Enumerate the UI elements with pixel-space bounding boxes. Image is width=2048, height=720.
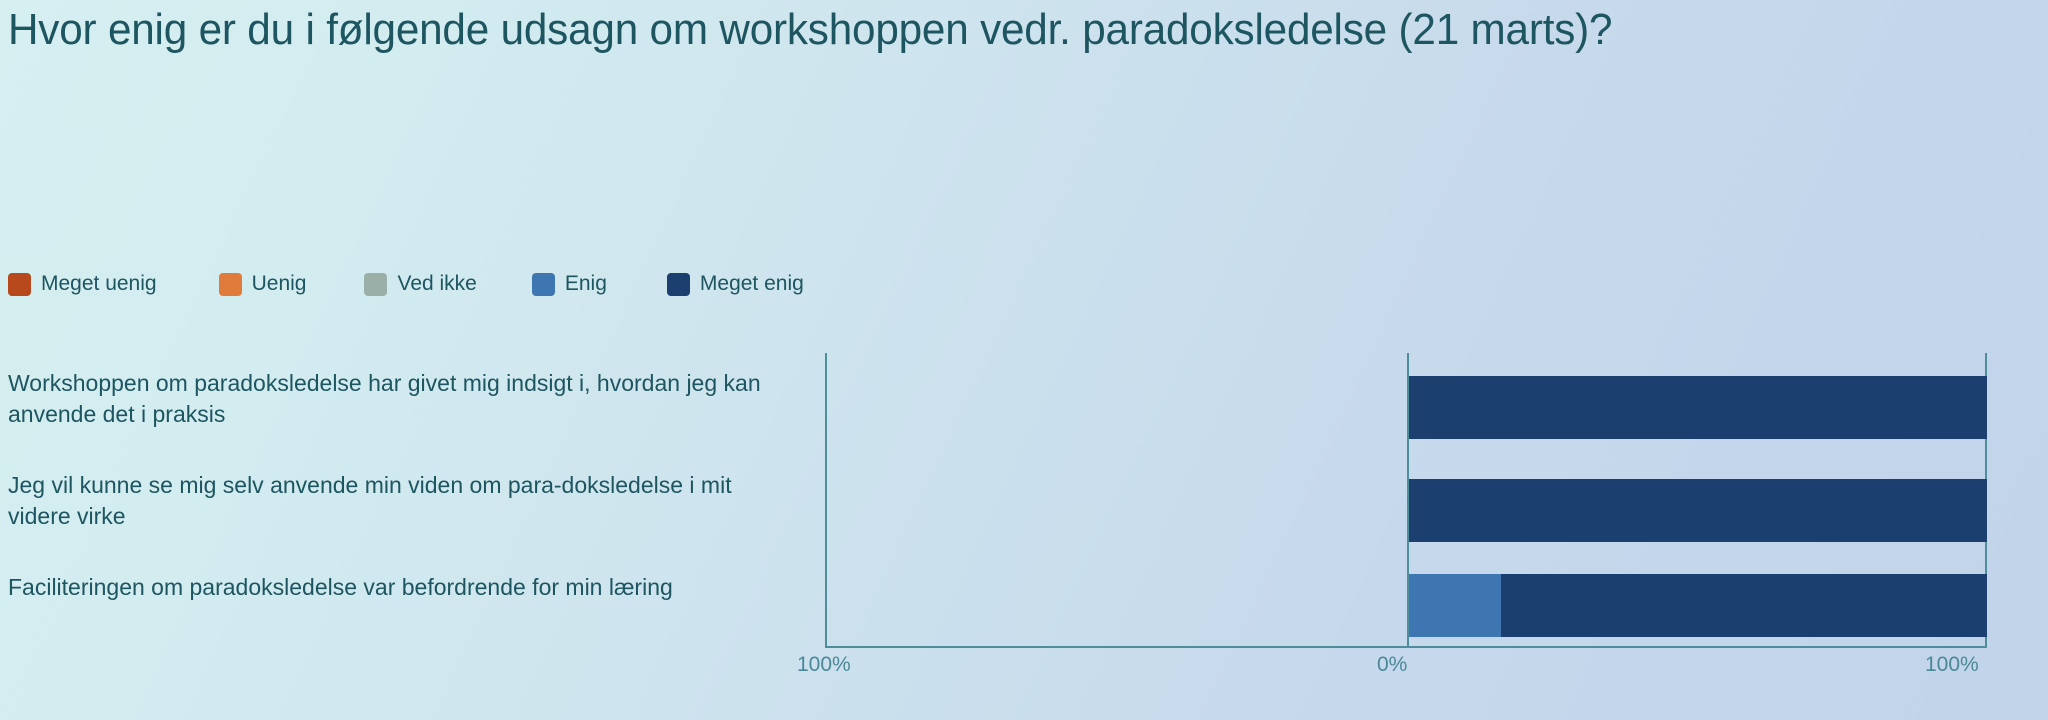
plot-area [825, 353, 1985, 648]
category-label-0: Workshoppen om paradoksledelse har givet… [8, 368, 798, 430]
x-tick-center: 0% [1377, 653, 1407, 677]
bar-segment[interactable] [1501, 574, 1987, 637]
legend-item-ved-ikke[interactable]: Ved ikke [364, 272, 476, 296]
chart-legend: Meget uenig Uenig Ved ikke Enig Meget en… [8, 272, 814, 296]
x-axis-ticks: 100% 0% 100% [825, 653, 1987, 693]
legend-swatch-enig [532, 273, 555, 296]
legend-swatch-uenig [219, 273, 242, 296]
legend-item-meget-enig[interactable]: Meget enig [667, 272, 804, 296]
legend-swatch-ved-ikke [364, 273, 387, 296]
legend-label-ved-ikke: Ved ikke [397, 272, 476, 296]
legend-item-enig[interactable]: Enig [532, 272, 607, 296]
bar-segment[interactable] [1409, 479, 1987, 542]
bar-row[interactable] [827, 574, 1985, 637]
legend-label-enig: Enig [565, 272, 607, 296]
legend-label-uenig: Uenig [252, 272, 307, 296]
legend-label-meget-uenig: Meget uenig [41, 272, 157, 296]
legend-label-meget-enig: Meget enig [700, 272, 804, 296]
bar-row[interactable] [827, 376, 1985, 439]
legend-swatch-meget-enig [667, 273, 690, 296]
bar-segment[interactable] [1409, 376, 1987, 439]
bar-row[interactable] [827, 479, 1985, 542]
bar-segment[interactable] [1409, 574, 1501, 637]
x-tick-left: 100% [797, 653, 851, 677]
x-tick-right: 100% [1925, 653, 1979, 677]
legend-swatch-meget-uenig [8, 273, 31, 296]
page-title: Hvor enig er du i følgende udsagn om wor… [8, 2, 1918, 57]
legend-item-uenig[interactable]: Uenig [219, 272, 307, 296]
category-labels: Workshoppen om paradoksledelse har givet… [8, 350, 808, 650]
legend-item-meget-uenig[interactable]: Meget uenig [8, 272, 157, 296]
diverging-bar-chart: Workshoppen om paradoksledelse har givet… [0, 350, 2048, 720]
category-label-1: Jeg vil kunne se mig selv anvende min vi… [8, 470, 798, 532]
slide-canvas: Hvor enig er du i følgende udsagn om wor… [0, 0, 2048, 720]
category-label-2: Faciliteringen om paradoksledelse var be… [8, 572, 798, 603]
